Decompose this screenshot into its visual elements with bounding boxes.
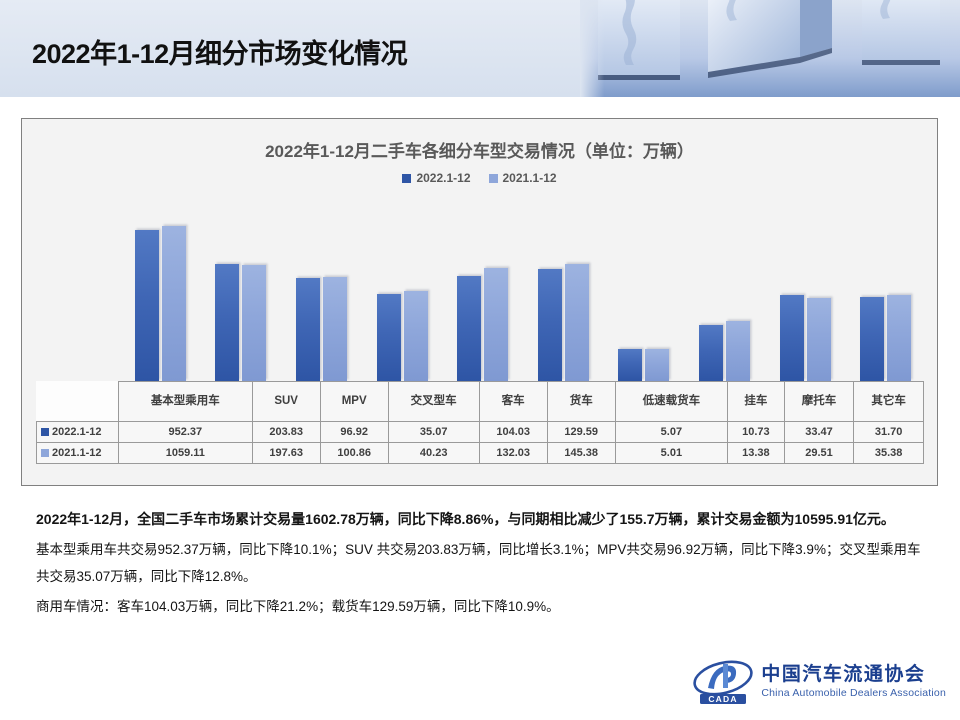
slide-root: 2022年1-12月细分市场变化情况 2022年1-12月二手车各细分车型交易情… [0,0,960,720]
table-column-header-7: 挂车 [728,382,785,422]
legend-item-2022[interactable]: 2022.1-12 [402,171,470,185]
svg-text:CADA: CADA [709,694,738,704]
bar-group-6 [604,199,685,381]
legend-swatch-2021 [489,174,498,183]
table-cell-r1-c8: 29.51 [784,443,854,464]
row-series-swatch [41,428,49,436]
table-column-header-6: 低速载货车 [615,382,727,422]
bar-2022.1-12-基本型乘用车[interactable] [135,230,159,381]
table-cell-r0-c3: 35.07 [388,422,479,443]
bar-2021.1-12-交叉型车[interactable] [404,291,428,381]
legend-swatch-2022 [402,174,411,183]
bar-2021.1-12-货车[interactable] [565,264,589,381]
bar-2021.1-12-客车[interactable] [484,268,508,381]
table-cell-r1-c0: 1059.11 [119,443,253,464]
table-cell-r0-c6: 5.07 [615,422,727,443]
table-row: 2021.1-121059.11197.63100.8640.23132.031… [37,443,924,464]
table-row: 2022.1-12952.37203.8396.9235.07104.03129… [37,422,924,443]
table-row-label-0: 2022.1-12 [37,422,119,443]
bar-2022.1-12-低速载货车[interactable] [618,349,642,381]
table-cell-r0-c2: 96.92 [320,422,388,443]
table-cell-r0-c1: 203.83 [252,422,320,443]
blue-cubes-world-map-icon [580,0,960,97]
table-cell-r0-c5: 129.59 [547,422,615,443]
legend-item-2021[interactable]: 2021.1-12 [489,171,557,185]
passenger-vehicle-paragraph: 基本型乘用车共交易952.37万辆，同比下降10.1%；SUV 共交易203.8… [36,536,930,591]
table-cell-r0-c0: 952.37 [119,422,253,443]
table-cell-r1-c7: 13.38 [728,443,785,464]
bar-2022.1-12-MPV[interactable] [296,278,320,381]
bar-2021.1-12-其它车[interactable] [887,295,911,381]
bar-group-5 [523,199,604,381]
legend-label-2021: 2021.1-12 [503,171,557,185]
slide-header: 2022年1-12月细分市场变化情况 [0,0,960,97]
table-cell-r1-c1: 197.63 [252,443,320,464]
bar-2022.1-12-其它车[interactable] [860,297,884,381]
bar-2021.1-12-挂车[interactable] [726,321,750,381]
table-column-header-0: 基本型乘用车 [119,382,253,422]
chart-plot-area [120,199,926,381]
bar-2022.1-12-客车[interactable] [457,276,481,381]
table-header-row: 基本型乘用车SUVMPV交叉型车客车货车低速载货车挂车摩托车其它车 [37,382,924,422]
bar-2021.1-12-SUV[interactable] [242,265,266,381]
table-cell-r1-c6: 5.01 [615,443,727,464]
bar-group-0 [120,199,201,381]
bar-group-7 [684,199,765,381]
bar-2022.1-12-摩托车[interactable] [780,295,804,381]
table-cell-r0-c4: 104.03 [479,422,547,443]
bar-group-3 [362,199,443,381]
logo-english-name: China Automobile Dealers Association [761,688,946,699]
page-title: 2022年1-12月细分市场变化情况 [32,32,407,71]
table-cell-r1-c3: 40.23 [388,443,479,464]
table-column-header-5: 货车 [547,382,615,422]
bar-2021.1-12-基本型乘用车[interactable] [162,226,186,381]
table-cell-r0-c8: 33.47 [784,422,854,443]
chart-legend: 2022.1-12 2021.1-12 [22,171,937,185]
bar-2022.1-12-交叉型车[interactable] [377,294,401,381]
logo-chinese-name: 中国汽车流通协会 [761,665,946,684]
table-body: 2022.1-12952.37203.8396.9235.07104.03129… [37,422,924,464]
table-corner-cell [37,382,119,422]
chart-panel: 2022年1-12月二手车各细分车型交易情况（单位：万辆） 2022.1-12 … [21,118,938,486]
chart-data-table: 基本型乘用车SUVMPV交叉型车客车货车低速载货车挂车摩托车其它车 2022.1… [36,381,924,464]
bar-2021.1-12-摩托车[interactable] [807,298,831,381]
bar-group-4 [442,199,523,381]
bar-2022.1-12-SUV[interactable] [215,264,239,381]
legend-label-2022: 2022.1-12 [416,171,470,185]
bar-group-1 [201,199,282,381]
bar-group-2 [281,199,362,381]
bar-2022.1-12-货车[interactable] [538,269,562,381]
bar-2022.1-12-挂车[interactable] [699,325,723,381]
bar-group-8 [765,199,846,381]
bar-group-9 [845,199,926,381]
table-cell-r1-c4: 132.03 [479,443,547,464]
table-column-header-2: MPV [320,382,388,422]
table-cell-r1-c9: 35.38 [854,443,924,464]
summary-paragraph: 2022年1-12月，全国二手车市场累计交易量1602.78万辆，同比下降8.8… [36,505,930,534]
table-column-header-1: SUV [252,382,320,422]
cada-emblem-icon: CADA [692,658,754,706]
table-cell-r1-c5: 145.38 [547,443,615,464]
table-cell-r0-c7: 10.73 [728,422,785,443]
bar-2021.1-12-低速载货车[interactable] [645,349,669,381]
bar-2021.1-12-MPV[interactable] [323,277,347,381]
table-column-header-4: 客车 [479,382,547,422]
table-column-header-3: 交叉型车 [388,382,479,422]
table-cell-r0-c9: 31.70 [854,422,924,443]
chart-title: 2022年1-12月二手车各细分车型交易情况（单位：万辆） [22,137,937,162]
table-cell-r1-c2: 100.86 [320,443,388,464]
commercial-vehicle-paragraph: 商用车情况：客车104.03万辆，同比下降21.2%；载货车129.59万辆，同… [36,593,930,621]
table-column-header-8: 摩托车 [784,382,854,422]
row-series-swatch [41,449,49,457]
body-text-block: 2022年1-12月，全国二手车市场累计交易量1602.78万辆，同比下降8.8… [36,505,930,623]
organization-logo: CADA 中国汽车流通协会 China Automobile Dealers A… [692,658,946,706]
table-row-label-1: 2021.1-12 [37,443,119,464]
table-column-header-9: 其它车 [854,382,924,422]
